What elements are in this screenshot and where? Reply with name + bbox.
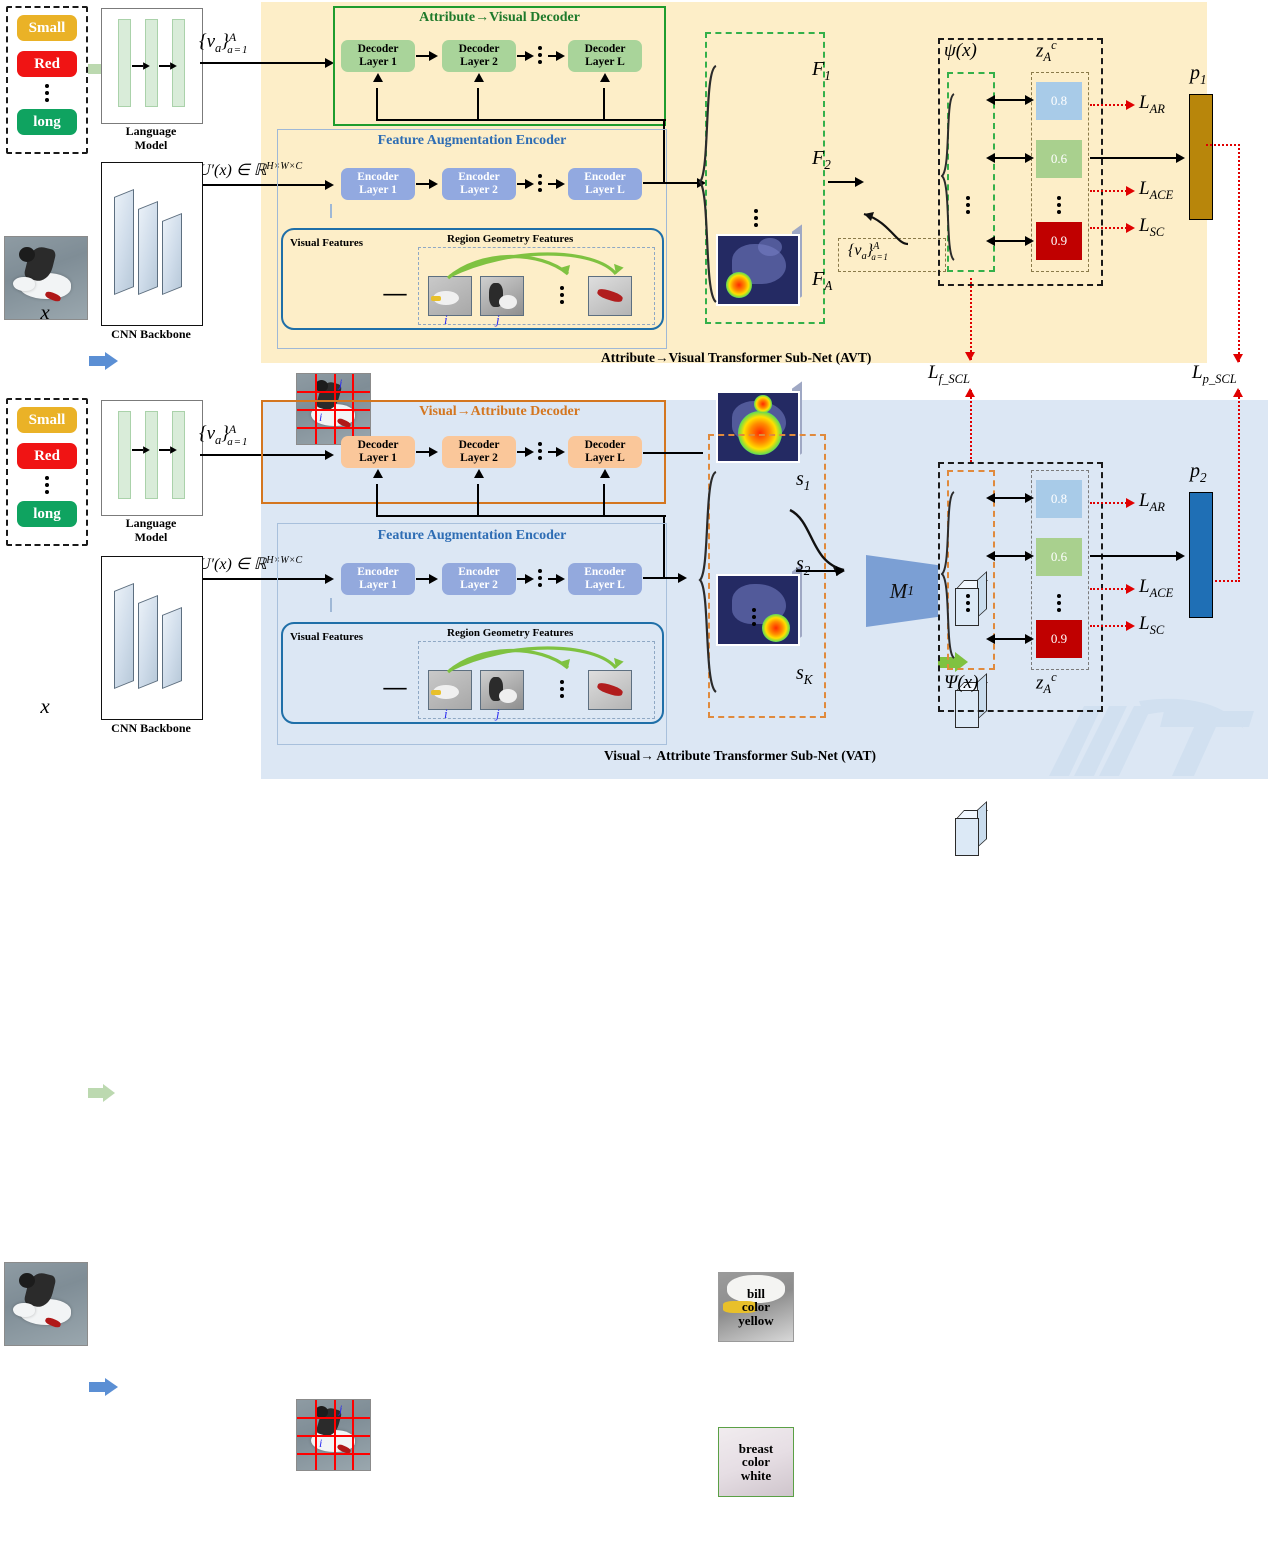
attribute-to-lm-arrow-bottom (88, 1084, 116, 1102)
language-model-label2-bottom: Model (101, 530, 201, 545)
vat-z-sup: c (1051, 670, 1057, 684)
vat-encoder-layer-1-l1: Encoder (357, 566, 399, 579)
vat-prediction-base: p (1190, 460, 1200, 482)
avt-region-geometry-title: Region Geometry Features (447, 233, 573, 245)
vat-encoder-layer-L-l1: Encoder (584, 566, 626, 579)
avt-loss-sc-base: L (1139, 215, 1150, 236)
avt-psi-cube-ellipsis (966, 196, 970, 214)
vat-region-label-j: j (496, 706, 500, 722)
vat-score-1: 0.8 (1036, 480, 1082, 518)
vat-region-patch-j (480, 670, 524, 710)
attribute-chip-red-bottom: Red (17, 443, 77, 469)
avt-region-label-j: j (496, 312, 500, 328)
vat-loss-ace: LACE (1139, 576, 1173, 601)
language-model-label2-top: Model (101, 138, 201, 153)
vat-loss-ar: LAR (1139, 490, 1165, 515)
vat-patch-ellipsis (752, 608, 756, 626)
avt-score-2: 0.6 (1036, 140, 1082, 178)
avt-encoder-ellipsis (538, 174, 542, 192)
avt-fm2-base: F (812, 147, 824, 169)
avt-visual-features-title: Visual Features (290, 237, 363, 249)
avt-score-ellipsis (1057, 196, 1061, 214)
avt-decoder-layer-L[interactable]: Decoder Layer L (568, 40, 642, 72)
avt-decoder-layer-1-l2: Layer 1 (359, 56, 397, 69)
vat-patch-1-sub: 1 (804, 478, 811, 493)
attribute-list-top: Small Red long (6, 6, 88, 154)
cross-loss-p-base: L (1192, 362, 1203, 383)
avt-loss-ar-sub: AR (1150, 102, 1165, 116)
language-model-box-top (101, 8, 203, 124)
avt-psi-brace (941, 90, 959, 265)
avt-decoder-title: Attribute→Visual Decoder (333, 10, 666, 26)
vat-loss-ace-sub: ACE (1150, 586, 1174, 600)
avt-encoder-layer-1[interactable]: Encoder Layer 1 (341, 168, 415, 200)
avt-region-patch-i (428, 276, 472, 316)
avt-mapper-input-curve (856, 200, 916, 246)
avt-prediction-base: p (1190, 62, 1200, 84)
vat-encoder-layer-L[interactable]: Encoder Layer L (568, 563, 642, 595)
vat-patch-K-sub: K (804, 672, 813, 687)
vat-patch-1-base: s (796, 468, 804, 490)
vat-score-K: 0.9 (1036, 620, 1082, 658)
vat-region-label-i: i (444, 706, 448, 722)
avt-decoder-layer-2-l2: Layer 2 (460, 56, 498, 69)
attribute-list-bottom: Small Red long (6, 398, 88, 546)
vat-caption: Visual→ Attribute Transformer Sub-Net (V… (604, 748, 876, 764)
avt-minus-sign: — (378, 280, 412, 306)
vat-prediction-bar (1189, 492, 1213, 618)
vat-encoder-title: Feature Augmentation Encoder (277, 528, 667, 544)
avt-encoder-layer-2-l2: Layer 2 (460, 184, 498, 197)
input-image-bottom (4, 1262, 88, 1346)
vat-decoder-layer-2-l1: Decoder (459, 439, 500, 452)
cnn-backbone-label-bottom: CNN Backbone (91, 721, 211, 736)
avt-loss-ace: LACE (1139, 178, 1173, 203)
avt-region-label-i: i (444, 312, 448, 328)
avt-encoder-layer-1-l1: Encoder (357, 171, 399, 184)
vat-encoder-layer-L-l2: Layer L (585, 579, 625, 592)
vat-z-label: zAc (1036, 670, 1057, 697)
cross-loss-p-scl: Lp_SCL (1192, 362, 1237, 387)
vat-encoder-ellipsis (538, 569, 542, 587)
vat-prediction-sub: 2 (1200, 470, 1207, 485)
avt-fmA-base: F (812, 268, 824, 290)
vat-region-patch-i (428, 670, 472, 710)
language-model-label-top: Language (101, 124, 201, 139)
attr-token-label-top: {va}Aa = 1 (199, 31, 257, 56)
avt-feature-map-1 (716, 234, 800, 306)
avt-prediction-bar (1189, 94, 1213, 220)
vat-decoder-layer-L-l1: Decoder (585, 439, 626, 452)
attribute-ellipsis-top (8, 84, 86, 102)
vat-encoder-layer-2-l2: Layer 2 (460, 579, 498, 592)
avt-z-sup: c (1051, 38, 1057, 52)
input-image-label-bottom: x (4, 694, 86, 719)
avt-feature-map-ellipsis (754, 209, 758, 227)
language-model-label-bottom: Language (101, 516, 201, 531)
cross-loss-f-sub: f_SCL (939, 372, 970, 386)
avt-decoder-layer-2-l1: Decoder (459, 43, 500, 56)
vat-decoder-layer-1[interactable]: Decoder Layer 1 (341, 436, 415, 468)
cnn-backbone-box-top (101, 162, 203, 326)
cnn-backbone-label-top: CNN Backbone (91, 327, 211, 342)
cnn-backbone-box-bottom (101, 556, 203, 720)
vat-visual-features-title: Visual Features (290, 631, 363, 643)
vat-psi-brace (941, 488, 959, 663)
vat-score-ellipsis (1057, 594, 1061, 612)
avt-score-1: 0.8 (1036, 82, 1082, 120)
vat-patch-1-line3: yellow (738, 1314, 773, 1328)
vat-loss-sc-sub: SC (1150, 623, 1165, 637)
vat-patch-K-base: s (796, 662, 804, 684)
avt-prediction-sub: 1 (1200, 72, 1207, 87)
avt-region-ellipsis (560, 286, 564, 304)
avt-feature-map-A-label: FA (812, 268, 832, 294)
vat-patch-2: breast color white (718, 1427, 794, 1497)
vat-decoder-ellipsis (538, 442, 542, 460)
vat-encoder-layer-2[interactable]: Encoder Layer 2 (442, 563, 516, 595)
avt-decoder-ellipsis (538, 46, 542, 64)
vat-patch-brace (698, 466, 724, 698)
vat-encoder-layer-1[interactable]: Encoder Layer 1 (341, 563, 415, 595)
avt-encoder-layer-L-l1: Encoder (584, 171, 626, 184)
vat-decoder-layer-1-l1: Decoder (358, 439, 399, 452)
avt-psi-cube-K (955, 810, 985, 854)
language-model-box-bottom (101, 400, 203, 516)
vat-prediction-label: p2 (1190, 460, 1207, 486)
vat-patch-1: bill color yellow (718, 1272, 794, 1342)
vat-decoder-title: Visual→Attribute Decoder (333, 404, 666, 420)
avt-fm1-base: F (812, 58, 824, 80)
avt-mapper-M1[interactable]: M1 (866, 555, 938, 627)
vat-decoder-layer-L-l2: Layer L (585, 452, 625, 465)
avt-caption: Attribute→Visual Transformer Sub-Net (AV… (601, 350, 871, 366)
vat-score-2: 0.6 (1036, 538, 1082, 576)
vat-loss-ar-sub: AR (1150, 500, 1165, 514)
vat-encoder-layer-1-l2: Layer 1 (359, 579, 397, 592)
avt-feature-brace (698, 60, 724, 310)
vat-z-sub: A (1043, 682, 1051, 696)
avt-fmA-sub: A (824, 278, 832, 293)
vat-loss-sc-base: L (1139, 613, 1150, 634)
vat-loss-ar-base: L (1139, 490, 1150, 511)
avt-encoder-layer-2[interactable]: Encoder Layer 2 (442, 168, 516, 200)
vat-psi-cube-ellipsis (966, 594, 970, 612)
image-to-cnn-arrow-bottom (89, 1378, 119, 1396)
avt-region-patch-j (480, 276, 524, 316)
attribute-chip-long-bottom: long (17, 501, 77, 527)
avt-region-relation-arrows (420, 248, 650, 282)
avt-encoder-title: Feature Augmentation Encoder (277, 133, 667, 149)
vat-decoder-layer-2[interactable]: Decoder Layer 2 (442, 436, 516, 468)
vat-patch-2-line2: color (742, 1455, 770, 1469)
vat-patch-2-line3: white (741, 1469, 771, 1483)
vat-psi-label: Ψ(x) (944, 672, 978, 694)
avt-fm1-sub: 1 (824, 68, 831, 83)
avt-encoder-layer-L-l2: Layer L (585, 184, 625, 197)
avt-z-sub: A (1043, 50, 1051, 64)
visual-feature-text-bottom: U′(x) ∈ ℝ (199, 556, 266, 573)
avt-loss-ar-base: L (1139, 92, 1150, 113)
avt-fm2-sub: 2 (824, 157, 831, 172)
cross-loss-f-scl: Lf_SCL (928, 362, 970, 387)
avt-encoder-layer-L[interactable]: Encoder Layer L (568, 168, 642, 200)
avt-mapper-sub: 1 (907, 583, 914, 599)
image-to-cnn-arrow-top (89, 352, 119, 370)
avt-loss-sc: LSC (1139, 215, 1164, 240)
vat-encoder-layer-2-l1: Encoder (458, 566, 500, 579)
cross-loss-p-sub: p_SCL (1203, 372, 1237, 386)
vat-minus-sign: — (378, 674, 412, 700)
vat-patch-1-line2: color (742, 1300, 770, 1314)
avt-psi-label: ψ(x) (944, 40, 977, 62)
vat-region-relation-arrows (420, 642, 650, 676)
vat-loss-ace-base: L (1139, 576, 1150, 597)
avt-feature-map-2-label: F2 (812, 147, 831, 173)
avt-mapper-label: M (890, 579, 908, 604)
vat-decoder-layer-2-l2: Layer 2 (460, 452, 498, 465)
avt-z-label: zAc (1036, 38, 1057, 65)
avt-loss-ace-base: L (1139, 178, 1150, 199)
attribute-ellipsis-bottom (8, 476, 86, 494)
avt-feature-map-1-label: F1 (812, 58, 831, 84)
avt-decoder-layer-1-l1: Decoder (358, 43, 399, 56)
avt-prediction-label: p1 (1190, 62, 1207, 88)
vat-decoder-layer-L[interactable]: Decoder Layer L (568, 436, 642, 468)
avt-loss-ar: LAR (1139, 92, 1165, 117)
cross-loss-f-base: L (928, 362, 939, 383)
vat-region-patch-k (588, 670, 632, 710)
vat-loss-sc: LSC (1139, 613, 1164, 638)
vat-patch-K-label: sK (796, 662, 813, 688)
attr-token-label-bottom: {va}Aa = 1 (199, 423, 257, 448)
vat-visual-features-image: j i (296, 1399, 371, 1471)
input-image-label-top: x (4, 300, 86, 325)
visual-feature-text-top: U′(x) ∈ ℝ (199, 162, 266, 179)
vat-patch-2-line1: breast (739, 1442, 773, 1456)
vat-patch-1-label: s1 (796, 468, 810, 494)
avt-encoder-layer-2-l1: Encoder (458, 171, 500, 184)
vat-region-geometry-title: Region Geometry Features (447, 627, 573, 639)
avt-loss-ace-sub: ACE (1150, 188, 1174, 202)
attribute-chip-red-top: Red (17, 51, 77, 77)
vat-patch-1-line1: bill (747, 1287, 765, 1301)
vat-decoder-layer-1-l2: Layer 1 (359, 452, 397, 465)
avt-loss-sc-sub: SC (1150, 225, 1165, 239)
avt-decoder-layer-L-l1: Decoder (585, 43, 626, 56)
attribute-chip-small-top: Small (17, 15, 77, 41)
avt-decoder-layer-L-l2: Layer L (585, 56, 625, 69)
attribute-chip-long-top: long (17, 109, 77, 135)
avt-score-K: 0.9 (1036, 222, 1082, 260)
avt-encoder-layer-1-l2: Layer 1 (359, 184, 397, 197)
avt-decoder-layer-2[interactable]: Decoder Layer 2 (442, 40, 516, 72)
avt-region-patch-k (588, 276, 632, 316)
attribute-chip-small-bottom: Small (17, 407, 77, 433)
avt-decoder-layer-1[interactable]: Decoder Layer 1 (341, 40, 415, 72)
vat-region-ellipsis (560, 680, 564, 698)
